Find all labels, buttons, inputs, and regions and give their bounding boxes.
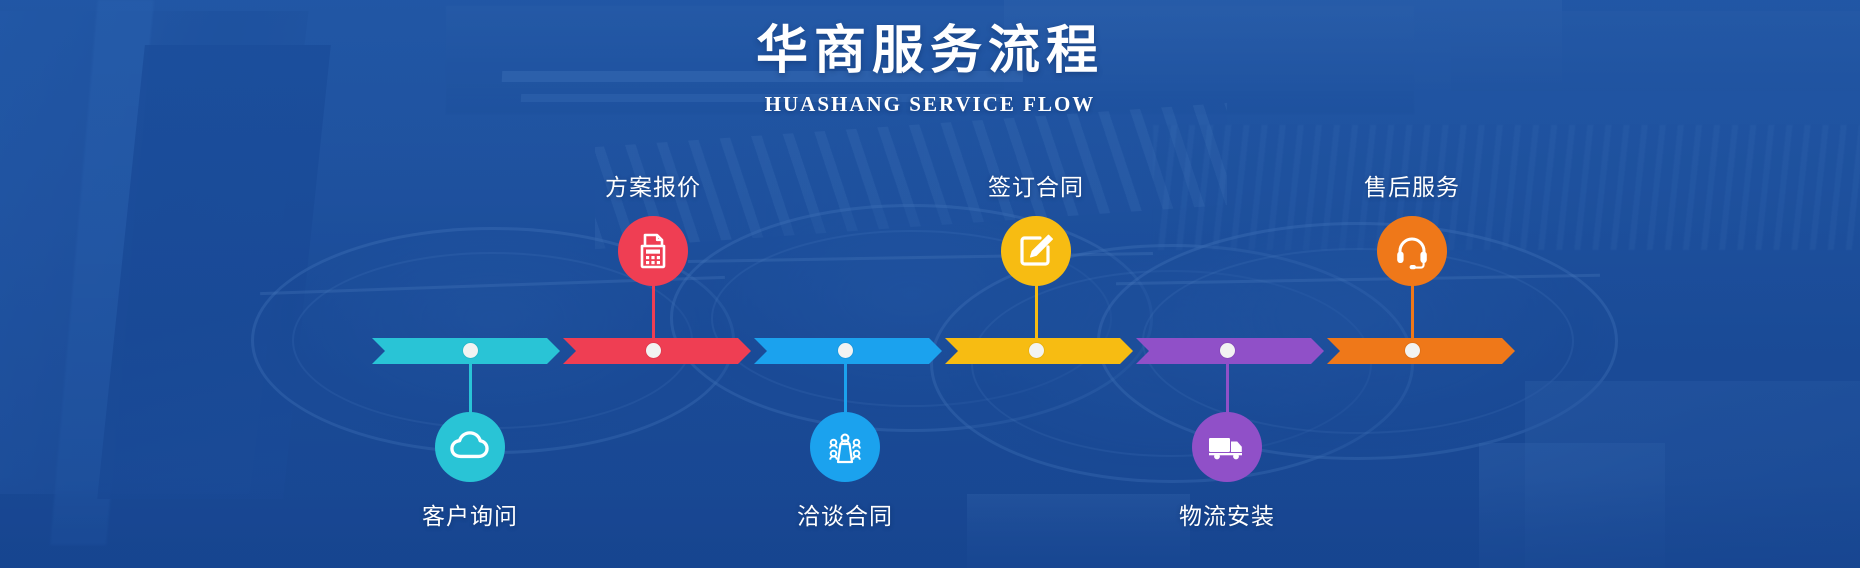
flow-node-dot-4	[1029, 343, 1044, 358]
step-label-5: 物流安装	[1107, 497, 1347, 531]
flow-node-dot-1	[463, 343, 478, 358]
flow-connector-3	[844, 352, 847, 420]
cloud-icon	[450, 427, 490, 467]
flow-node-dot-6	[1405, 343, 1420, 358]
step-label-1: 客户询问	[350, 497, 590, 531]
step-icon-5[interactable]	[1192, 412, 1262, 482]
service-flow-diagram: 客户询问 方案报价	[0, 0, 1860, 568]
truck-icon	[1206, 426, 1248, 468]
calculator-icon	[633, 231, 673, 271]
step-label-6: 售后服务	[1292, 168, 1532, 202]
meeting-icon	[824, 426, 866, 468]
flow-connector-2	[652, 282, 655, 350]
flow-connector-1	[469, 352, 472, 420]
step-icon-4[interactable]	[1001, 216, 1071, 286]
flow-node-dot-3	[838, 343, 853, 358]
step-label-4: 签订合同	[916, 168, 1156, 202]
flow-segment-6[interactable]	[1327, 338, 1515, 364]
service-flow-banner: 华商服务流程 HUASHANG SERVICE FLOW 客户询问	[0, 0, 1860, 568]
sign-contract-icon	[1016, 231, 1056, 271]
step-icon-6[interactable]	[1377, 216, 1447, 286]
step-label-2: 方案报价	[533, 168, 773, 202]
flow-node-dot-2	[646, 343, 661, 358]
flow-connector-6	[1411, 282, 1414, 350]
headset-icon	[1392, 231, 1432, 271]
flow-connector-5	[1226, 352, 1229, 420]
step-icon-2[interactable]	[618, 216, 688, 286]
step-icon-3[interactable]	[810, 412, 880, 482]
step-label-3: 洽谈合同	[725, 497, 965, 531]
flow-node-dot-5	[1220, 343, 1235, 358]
flow-connector-4	[1035, 282, 1038, 350]
step-icon-1[interactable]	[435, 412, 505, 482]
